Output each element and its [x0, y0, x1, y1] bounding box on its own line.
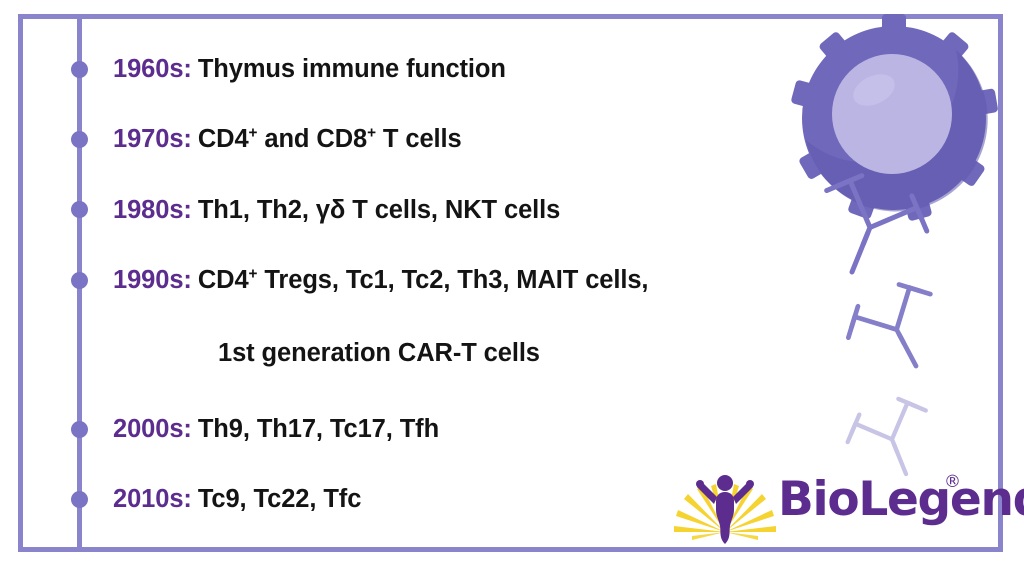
timeline-row-1960s: 1960s:Thymus immune function — [113, 57, 506, 83]
timeline-row-1990s-continuation: 1st generation CAR-T cells — [218, 341, 540, 367]
decade-label-2010s: 2010s: — [113, 485, 192, 513]
decade-text-1960s: Thymus immune function — [198, 55, 506, 83]
decade-text-1970s-pre: CD4 — [198, 125, 249, 153]
decade-label-1980s: 1980s: — [113, 196, 192, 224]
biolegend-figure-sunburst-icon — [672, 470, 778, 548]
biolegend-logo: BioLegend ® — [672, 470, 994, 548]
superscript-plus-cd8: + — [367, 125, 376, 142]
biolegend-wordmark: BioLegend — [778, 476, 1024, 523]
timeline-row-1970s: 1970s:CD4+ and CD8+ T cells — [113, 127, 462, 153]
decade-text-1990s-mid: Tregs, Tc1, Tc2, Th3, MAIT cells, — [257, 266, 648, 294]
decade-text-1970s-post: T cells — [376, 125, 462, 153]
decade-text-1990s-pre: CD4 — [198, 266, 249, 294]
decade-text-2000s: Th9, Th17, Tc17, Tfh — [198, 415, 439, 443]
timeline-row-2000s: 2000s:Th9, Th17, Tc17, Tfh — [113, 417, 439, 443]
decade-label-1990s: 1990s: — [113, 266, 192, 294]
decade-text-2010s: Tc9, Tc22, Tfc — [198, 485, 361, 513]
slide-canvas: 1960s:Thymus immune function 1970s:CD4+ … — [0, 0, 1024, 576]
timeline-row-2010s: 2010s:Tc9, Tc22, Tfc — [113, 487, 361, 513]
timeline-row-1990s: 1990s:CD4+ Tregs, Tc1, Tc2, Th3, MAIT ce… — [113, 268, 648, 294]
decade-label-1960s: 1960s: — [113, 55, 192, 83]
decade-text-1980s: Th1, Th2, γδ T cells, NKT cells — [198, 196, 560, 224]
registered-trademark-icon: ® — [944, 474, 961, 491]
decade-label-1970s: 1970s: — [113, 125, 192, 153]
decade-label-2000s: 2000s: — [113, 415, 192, 443]
timeline-row-1980s: 1980s:Th1, Th2, γδ T cells, NKT cells — [113, 198, 560, 224]
decade-text-1970s-mid: and CD8 — [257, 125, 367, 153]
